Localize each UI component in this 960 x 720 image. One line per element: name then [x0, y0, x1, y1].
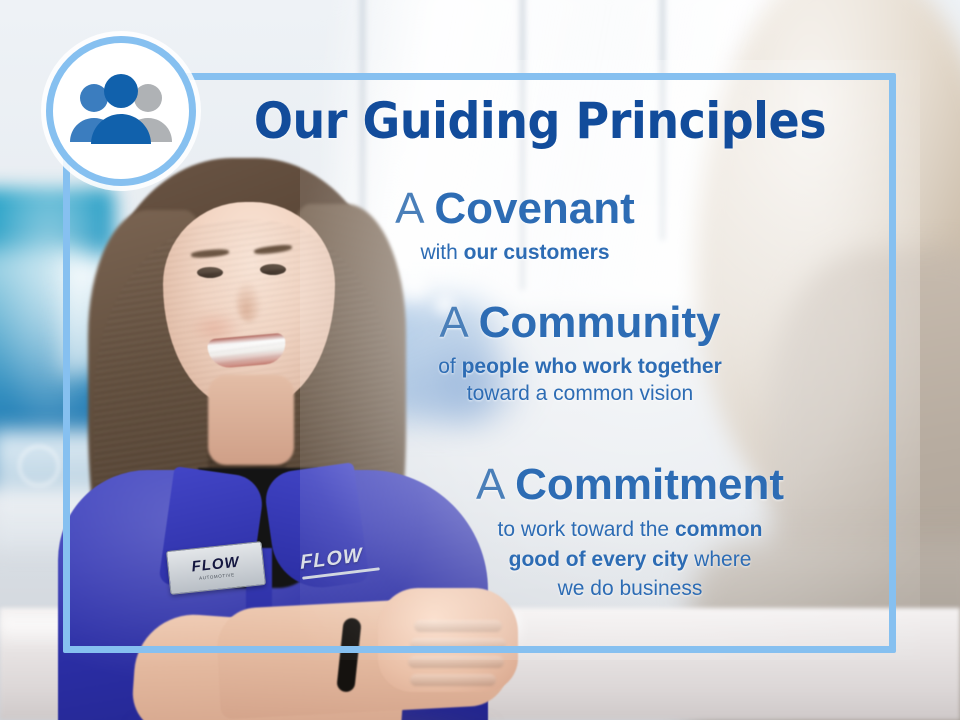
principle-article: A [476, 460, 503, 509]
principle-subtext-line: we do business [395, 574, 865, 604]
principle-word: Community [479, 298, 721, 347]
principle-subtext-line: with our customers [300, 239, 730, 267]
principle-subtext: to work toward the commongood of every c… [395, 515, 865, 604]
principle-headline: A Community [330, 300, 830, 346]
finger [410, 638, 506, 650]
principle-subtext: of people who work togethertoward a comm… [330, 353, 830, 408]
emphasis-text: common [675, 518, 763, 541]
emphasis-text: good of every city [509, 548, 689, 571]
plain-text: toward a common vision [467, 382, 693, 405]
principle-subtext-line: of people who work together [330, 353, 830, 381]
plain-text: to work toward the [498, 518, 675, 541]
people-group-icon [46, 36, 196, 186]
emphasis-text: our customers [464, 241, 610, 264]
page-title: Our Guiding Principles [241, 96, 839, 146]
plain-text: where [688, 548, 751, 571]
plain-text: with [420, 241, 463, 264]
principle-block-commitment: A Commitment to work toward the commongo… [395, 462, 865, 604]
principle-headline: A Commitment [395, 462, 865, 508]
principle-word: Covenant [434, 184, 634, 233]
principle-subtext-line: to work toward the common [395, 515, 865, 545]
finger [408, 656, 504, 668]
plain-text: we do business [558, 577, 703, 600]
emphasis-text: people who work together [462, 355, 722, 378]
principle-headline: A Covenant [300, 186, 730, 232]
principle-word: Commitment [515, 460, 784, 509]
finger [414, 620, 502, 632]
principle-article: A [395, 184, 422, 233]
principle-block-covenant: A Covenant with our customers [300, 186, 730, 266]
neck [208, 375, 294, 465]
promo-graphic: FLOW AUTOMOTIVE FLOW [0, 0, 960, 720]
principle-block-community: A Community of people who work togethert… [330, 300, 830, 408]
finger [410, 674, 496, 686]
plain-text: of [438, 355, 461, 378]
principle-subtext-line: toward a common vision [330, 380, 830, 408]
principle-subtext-line: good of every city where [395, 545, 865, 575]
principle-subtext: with our customers [300, 239, 730, 267]
principle-article: A [439, 298, 466, 347]
